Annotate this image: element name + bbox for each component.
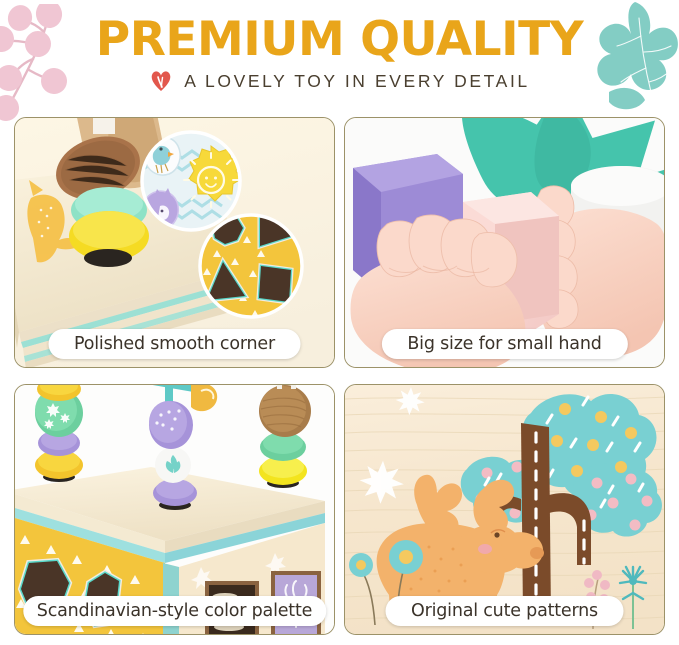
teal-leaf-icon	[589, 0, 679, 116]
heart-icon	[149, 70, 173, 92]
panel-1-caption: Polished smooth corner	[48, 329, 301, 359]
panel-scandinavian-style-color-palette[interactable]: Scandinavian-style color palette	[14, 384, 335, 635]
header: PREMIUM QUALITY A LOVELY TOY IN EVERY DE…	[0, 0, 679, 112]
panel-big-size-for-small-hand[interactable]: Big size for small hand	[344, 117, 665, 368]
panel-2-caption: Big size for small hand	[381, 329, 627, 359]
panel-polished-smooth-corner[interactable]: Polished smooth corner	[14, 117, 335, 368]
panel-4-caption: Original cute patterns	[385, 596, 624, 626]
page-title: PREMIUM QUALITY	[0, 14, 679, 66]
page-subtitle: A LOVELY TOY IN EVERY DETAIL	[184, 71, 530, 92]
feature-grid: Polished smooth corner	[14, 117, 665, 635]
panel-original-cute-patterns[interactable]: Original cute patterns	[344, 384, 665, 635]
subtitle-row: A LOVELY TOY IN EVERY DETAIL	[0, 70, 679, 92]
panel-3-caption: Scandinavian-style color palette	[23, 596, 326, 626]
promo-page: PREMIUM QUALITY A LOVELY TOY IN EVERY DE…	[0, 0, 679, 645]
